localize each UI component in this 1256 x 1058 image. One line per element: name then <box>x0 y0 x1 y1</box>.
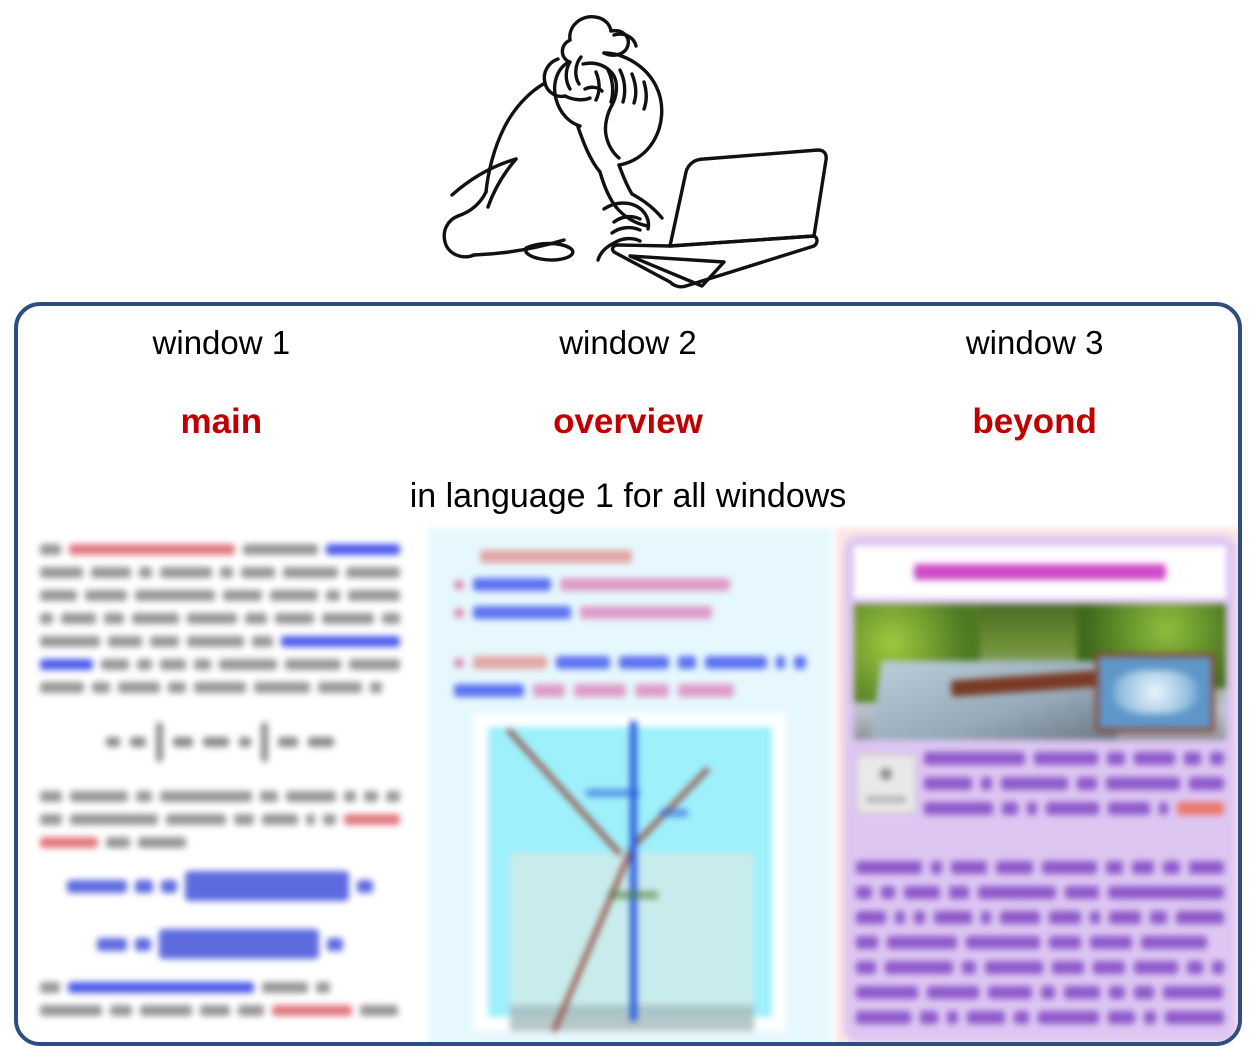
text-line <box>40 659 400 670</box>
illustration-area <box>0 0 1256 302</box>
angle-label-reflection <box>660 809 688 817</box>
text-line <box>40 636 400 647</box>
text-line <box>40 567 400 578</box>
text-line <box>40 982 400 993</box>
window-3-role: beyond <box>831 400 1238 444</box>
document-body <box>18 528 422 1016</box>
formula-optical-path-2 <box>40 924 400 964</box>
photo-tablet-map <box>1113 670 1198 714</box>
exercise-icon <box>856 754 916 814</box>
preview-window-3-beyond[interactable] <box>836 528 1242 1046</box>
text-line <box>924 777 1224 790</box>
window-headers: window 1 main window 2 overview window 3… <box>18 322 1238 522</box>
window-2-label: window 2 <box>425 322 832 364</box>
window-1-label: window 1 <box>18 322 425 364</box>
text-line <box>40 590 400 601</box>
bullet-dot-icon <box>454 580 464 590</box>
text-line <box>856 886 1224 899</box>
text-line <box>924 802 1224 815</box>
formula-optical-path-1 <box>40 866 400 906</box>
window-2-role: overview <box>425 400 832 444</box>
text-line <box>40 613 400 624</box>
preview-window-1-main[interactable] <box>18 528 422 1046</box>
window-1-role: main <box>18 400 425 444</box>
rain-sensor-photo <box>854 604 1226 740</box>
text-line <box>40 837 400 848</box>
overview-bullet <box>454 606 806 619</box>
overview-bullet <box>454 684 806 697</box>
text-line <box>40 791 400 802</box>
text-line <box>40 1005 400 1016</box>
text-line <box>40 544 400 555</box>
normal-line <box>630 721 637 1021</box>
preview-window-2-overview[interactable] <box>428 528 832 1046</box>
bullet-dot-icon <box>454 608 464 618</box>
angle-label-incidence <box>586 789 640 797</box>
person-thinking-at-laptop-icon <box>418 4 848 296</box>
window-previews-row <box>18 528 1242 1046</box>
slide-title-text <box>914 564 1166 580</box>
slide-body <box>844 740 1236 1024</box>
text-line <box>856 986 1224 999</box>
photo-tablet-screen <box>1095 653 1215 732</box>
slide-title-bar <box>854 546 1226 598</box>
window-column-1: window 1 main <box>18 322 425 444</box>
overview-heading <box>480 550 806 563</box>
text-line <box>40 682 400 693</box>
window-3-label: window 3 <box>831 322 1238 364</box>
overview-body <box>428 528 832 1031</box>
window-column-3: window 3 beyond <box>831 322 1238 444</box>
angle-label-refraction <box>608 891 658 899</box>
bullet-dot-icon <box>454 658 464 668</box>
windows-overview-panel: window 1 main window 2 overview window 3… <box>14 302 1242 1046</box>
text-line <box>856 961 1224 974</box>
text-line <box>924 752 1224 765</box>
slide-frame <box>844 536 1236 1042</box>
window-column-2: window 2 overview <box>425 322 832 444</box>
formula-integral-1 <box>40 719 400 765</box>
overview-bullet <box>454 656 806 669</box>
text-line <box>40 814 400 825</box>
refraction-diagram <box>474 713 786 1031</box>
text-line <box>856 861 1224 874</box>
text-line <box>856 936 1224 949</box>
text-line <box>856 1011 1224 1024</box>
text-line <box>856 911 1224 924</box>
language-subtitle: in language 1 for all windows <box>18 477 1238 516</box>
overview-bullet <box>454 578 806 591</box>
